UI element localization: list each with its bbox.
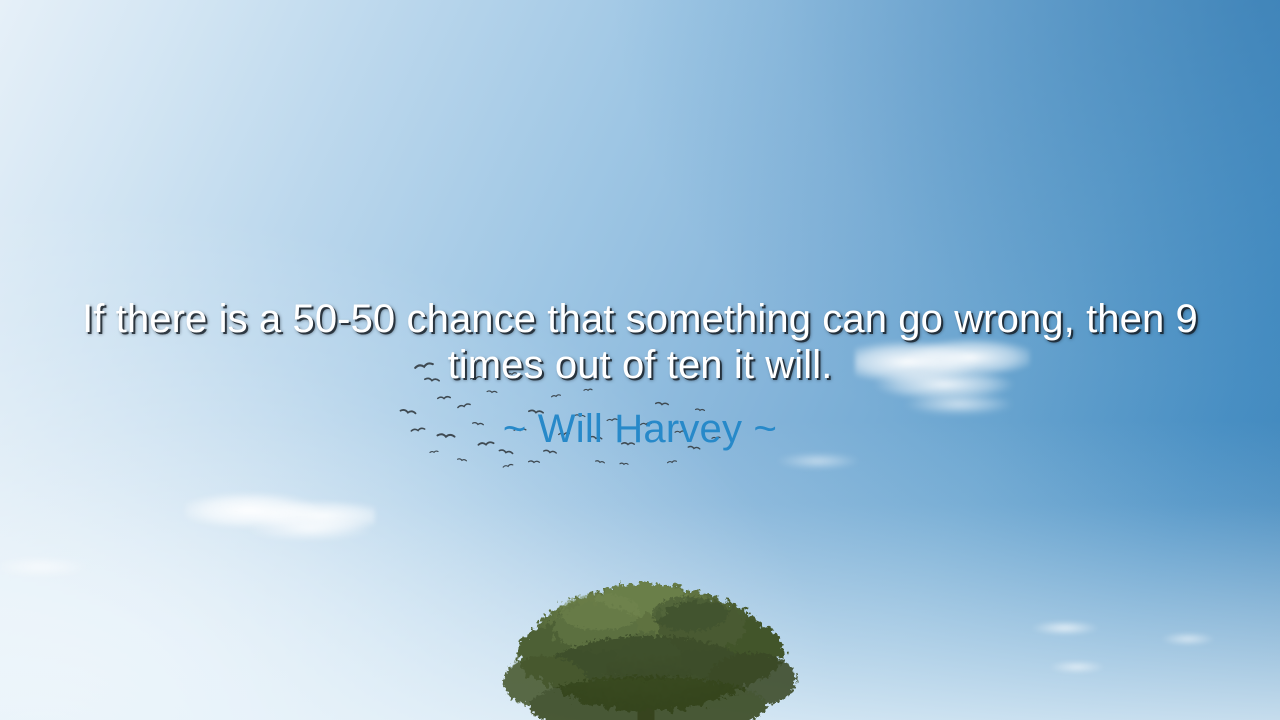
horizon-haze [0,420,1280,720]
quote-author: ~ Will Harvey ~ [40,406,1240,452]
quote-text: If there is a 50-50 chance that somethin… [60,296,1220,388]
quote-image-canvas: If there is a 50-50 chance that somethin… [0,0,1280,720]
quote-block: If there is a 50-50 chance that somethin… [0,296,1280,452]
